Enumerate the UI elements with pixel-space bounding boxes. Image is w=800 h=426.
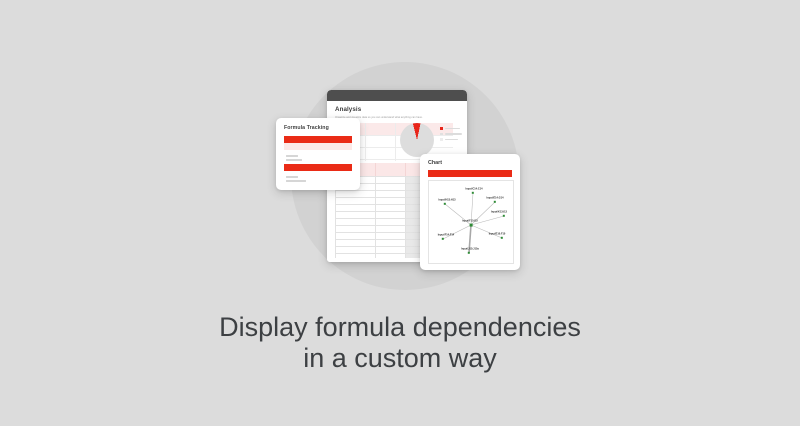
graph-node[interactable] bbox=[442, 238, 444, 240]
analysis-pie-chart bbox=[400, 123, 434, 157]
legend-item bbox=[440, 127, 464, 130]
graph-node-label: Input!J15:J15a bbox=[461, 248, 479, 251]
legend-label-placeholder bbox=[445, 139, 458, 141]
graph-node[interactable] bbox=[468, 252, 470, 254]
formula-text-line bbox=[286, 159, 302, 161]
dependency-graph-plot[interactable]: Input!C14:C14 Input!E14:G14 Input!H13:H1… bbox=[428, 180, 514, 264]
analysis-window-titlebar bbox=[327, 90, 467, 101]
formula-red-bar bbox=[284, 136, 352, 143]
graph-node-label: Input!H13:H13 bbox=[439, 199, 456, 202]
promo-graphic: Analysis Organize and visualize data so … bbox=[0, 0, 800, 426]
graph-node-label: Input!F14:F14 bbox=[438, 234, 454, 237]
formula-text-line bbox=[286, 176, 298, 178]
formula-tracking-title: Formula Tracking bbox=[284, 125, 329, 131]
graph-node-label: Input!E10:F10 bbox=[489, 233, 506, 236]
formula-text-line bbox=[286, 155, 298, 157]
formula-tracking-card[interactable]: Formula Tracking bbox=[276, 118, 360, 190]
graph-node[interactable] bbox=[503, 215, 505, 217]
formula-pink-row bbox=[284, 143, 352, 150]
analysis-pie-legend bbox=[440, 127, 464, 144]
caption-line-2: in a custom way bbox=[0, 343, 800, 374]
graph-node-label: Input!K13:I13 bbox=[491, 211, 507, 214]
legend-item bbox=[440, 133, 464, 136]
legend-swatch-icon bbox=[440, 127, 443, 130]
page-title: Display formula dependencies in a custom… bbox=[0, 312, 800, 374]
formula-text-line bbox=[286, 180, 306, 182]
graph-node-label: Input!E14:G14 bbox=[487, 197, 504, 200]
graph-node[interactable] bbox=[501, 237, 503, 239]
chart-red-bar bbox=[428, 170, 512, 177]
graph-node[interactable] bbox=[472, 192, 474, 194]
graph-node[interactable] bbox=[494, 201, 496, 203]
formula-red-bar bbox=[284, 164, 352, 171]
legend-swatch-icon bbox=[440, 138, 443, 141]
legend-label-placeholder bbox=[445, 128, 460, 130]
graph-node-hub-label: Input!F15:I15 bbox=[462, 220, 478, 223]
graph-node-label: Input!C14:C14 bbox=[466, 188, 483, 191]
chart-card-title: Chart bbox=[428, 160, 442, 166]
legend-swatch-icon bbox=[440, 133, 443, 136]
legend-label-placeholder bbox=[445, 133, 462, 135]
legend-item bbox=[440, 138, 464, 141]
caption-line-1: Display formula dependencies bbox=[0, 312, 800, 343]
chart-card[interactable]: Chart bbox=[420, 154, 520, 270]
graph-node[interactable] bbox=[444, 203, 446, 205]
graph-node-hub[interactable] bbox=[470, 224, 473, 227]
analysis-heading: Analysis bbox=[335, 106, 361, 113]
